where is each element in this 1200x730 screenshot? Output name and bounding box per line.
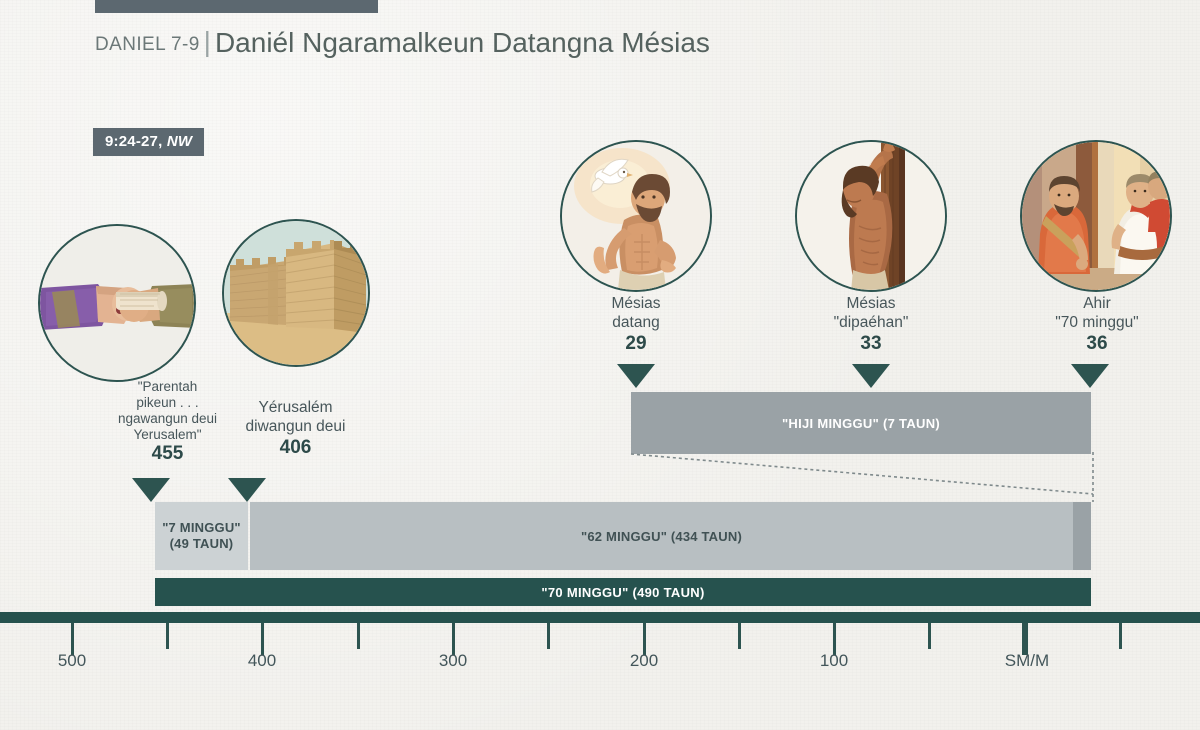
event-year-29: 29 xyxy=(566,334,706,353)
axis-tick-minor-1 xyxy=(166,623,169,649)
bible-reference-label: DANIEL 7-9 xyxy=(95,34,200,55)
event-caption-messiah-cut-off: Mésias "dipaéhan" 33 xyxy=(800,294,942,353)
caption-line: "dipaéhan" xyxy=(834,314,909,331)
jesus-on-stake-icon xyxy=(797,142,945,290)
event-caption-messiah-comes: Mésias datang 29 xyxy=(566,294,706,353)
caption-line: "Parentah xyxy=(138,379,198,394)
caption-line: Ahir xyxy=(1083,295,1111,312)
title-divider: | xyxy=(200,26,215,57)
bar-one-week-tail xyxy=(1073,502,1091,570)
caption-line: "70 minggu" xyxy=(1055,314,1138,331)
bar-seventy-weeks-label: "70 MINGGU" (490 TAUN) xyxy=(541,585,704,600)
page-title: DANIEL 7-9|Daniél Ngaramalkeun Datangna … xyxy=(95,26,710,59)
axis-label-200: 200 xyxy=(630,651,658,671)
event-image-messiah-cut-off[interactable] xyxy=(795,140,947,292)
hands-exchanging-scroll-icon xyxy=(40,226,194,380)
axis-label-300: 300 xyxy=(439,651,467,671)
caption-line: Yérusalém xyxy=(258,399,332,416)
bar-sixtytwo-weeks[interactable]: "62 MINGGU" (434 TAUN) xyxy=(250,502,1073,570)
event-image-decree[interactable] xyxy=(38,224,196,382)
caption-line: ngawangun deui xyxy=(118,411,217,426)
marker-arrow-406 xyxy=(228,478,266,502)
caption-line: datang xyxy=(612,314,659,331)
scripture-badge-translation: NW xyxy=(167,133,192,150)
bar-one-week[interactable]: "HIJI MINGGU" (7 TAUN) xyxy=(631,392,1091,454)
cornelius-conversion-icon xyxy=(1022,142,1170,290)
event-year-406: 406 xyxy=(208,438,383,457)
marker-arrow-36 xyxy=(1071,364,1109,388)
marker-arrow-29 xyxy=(617,364,655,388)
axis-tick-minor-5 xyxy=(928,623,931,649)
event-caption-end-70-weeks: Ahir "70 minggu" 36 xyxy=(1024,294,1170,353)
marker-arrow-33 xyxy=(852,364,890,388)
marker-arrow-455 xyxy=(132,478,170,502)
bar-one-week-label: "HIJI MINGGU" (7 TAUN) xyxy=(782,416,940,431)
event-image-rebuilt[interactable] xyxy=(222,219,370,367)
header-accent-bar xyxy=(95,0,378,13)
scripture-badge: 9:24-27, NW xyxy=(93,128,204,156)
caption-line: Mésias xyxy=(611,295,660,312)
event-image-messiah-comes[interactable] xyxy=(560,140,712,292)
event-image-end-70-weeks[interactable] xyxy=(1020,140,1172,292)
caption-line: Mésias xyxy=(846,295,895,312)
caption-line: pikeun . . . xyxy=(136,395,198,410)
event-year-36: 36 xyxy=(1024,334,1170,353)
jerusalem-walls-icon xyxy=(224,221,368,365)
caption-line: Yerusalem" xyxy=(133,427,201,442)
axis-label-400: 400 xyxy=(248,651,276,671)
caption-line: diwangun deui xyxy=(246,418,346,435)
axis-tick-minor-6 xyxy=(1119,623,1122,649)
bar-seven-weeks-line2: (49 TAUN) xyxy=(170,536,234,552)
axis-tick-minor-2 xyxy=(357,623,360,649)
axis-tick-minor-4 xyxy=(738,623,741,649)
bar-seventy-weeks[interactable]: "70 MINGGU" (490 TAUN) xyxy=(155,578,1091,606)
axis-tick-minor-3 xyxy=(547,623,550,649)
bar-seven-weeks[interactable]: "7 MINGGU" (49 TAUN) xyxy=(155,502,248,570)
bar-seven-weeks-line1: "7 MINGGU" xyxy=(162,520,241,536)
bar-sixtytwo-weeks-label: "62 MINGGU" (434 TAUN) xyxy=(581,529,742,544)
scripture-badge-verse: 9:24-27, xyxy=(105,133,162,150)
jesus-baptism-dove-icon xyxy=(562,142,710,290)
event-caption-rebuilt: Yérusalém diwangun deui 406 xyxy=(208,398,383,457)
timeline-axis xyxy=(0,612,1200,623)
title-text: Daniél Ngaramalkeun Datangna Mésias xyxy=(215,27,710,58)
axis-label-era: SM/M xyxy=(1005,651,1049,671)
axis-label-100: 100 xyxy=(820,651,848,671)
event-year-33: 33 xyxy=(800,334,942,353)
axis-label-500: 500 xyxy=(58,651,86,671)
